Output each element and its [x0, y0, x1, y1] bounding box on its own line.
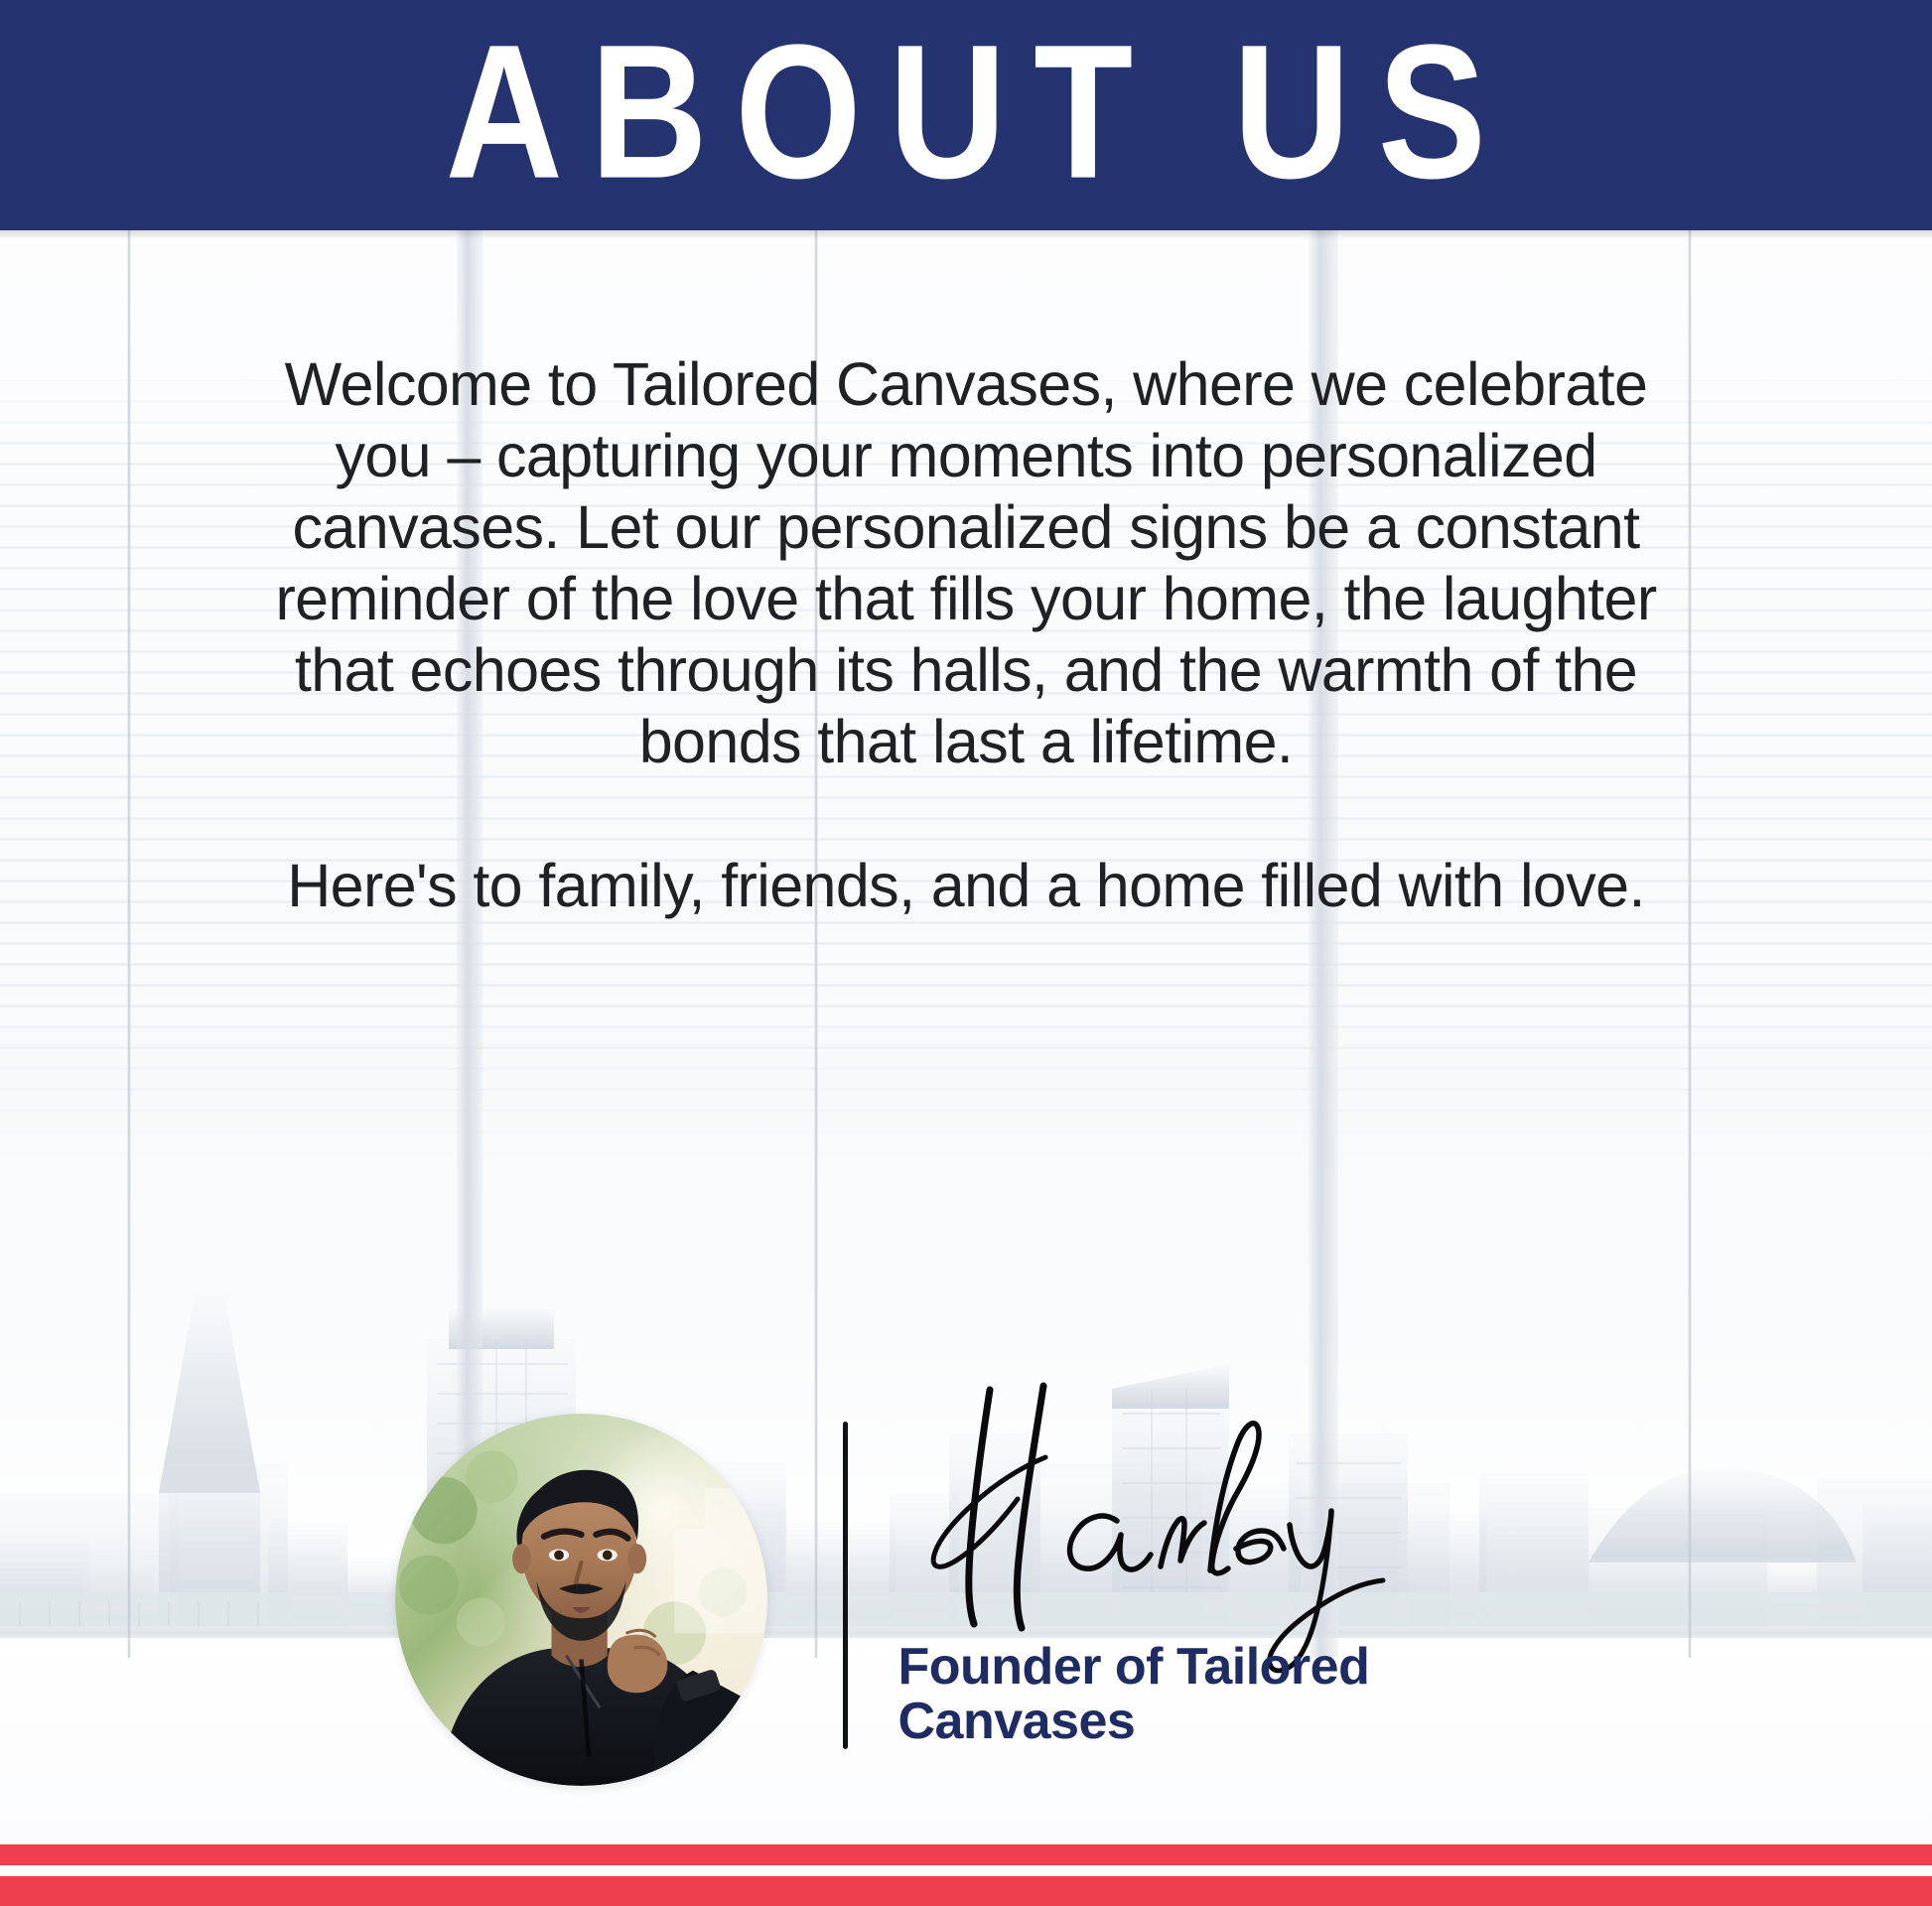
about-us-poster: ABOUT US Welcome to Tailored Canvases, w…	[0, 0, 1932, 1906]
vertical-divider	[843, 1422, 848, 1749]
paragraph-closing: Here's to family, friends, and a home fi…	[261, 851, 1671, 922]
about-copy: Welcome to Tailored Canvases, where we c…	[261, 349, 1671, 922]
footer-bar-lower	[0, 1876, 1932, 1906]
header-band: ABOUT US	[0, 0, 1932, 230]
footer-bar-upper	[0, 1844, 1932, 1865]
founder-role-label: Founder of Tailored Canvases	[898, 1640, 1514, 1749]
signature-block: Founder of Tailored Canvases	[0, 1390, 1932, 1827]
avatar	[395, 1414, 767, 1786]
paragraph-intro: Welcome to Tailored Canvases, where we c…	[261, 349, 1671, 778]
page-title: ABOUT US	[418, 17, 1514, 214]
